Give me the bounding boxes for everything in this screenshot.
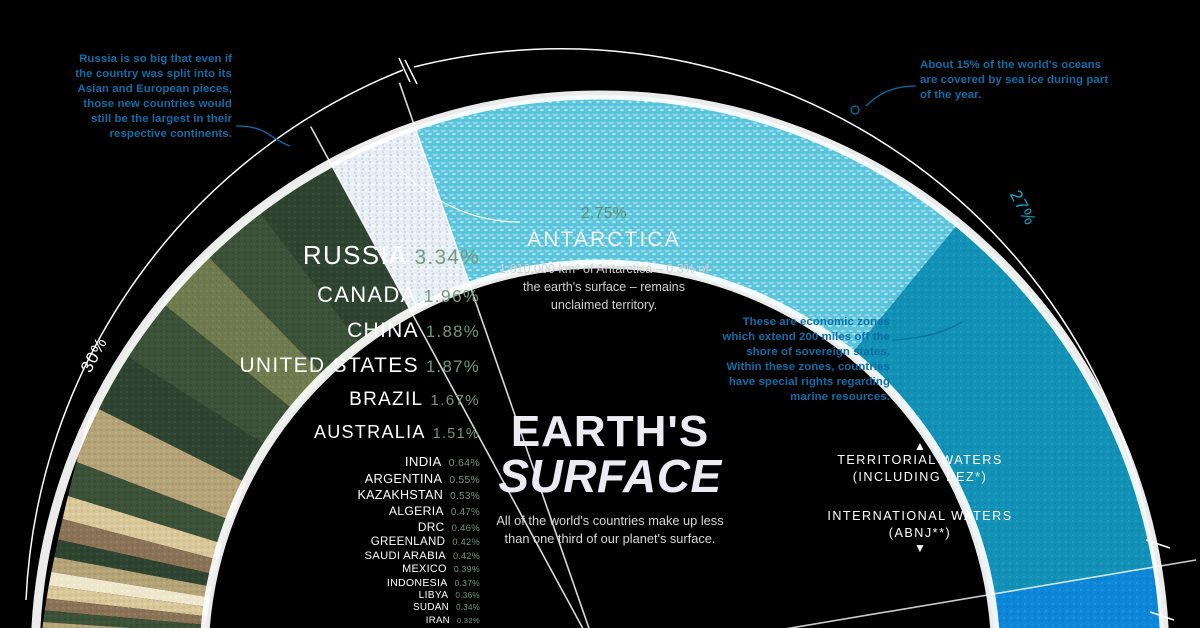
country-row[interactable]: INDONESIA0.37%	[150, 577, 480, 589]
country-name: GREENLAND	[371, 536, 446, 548]
leader-dot-sea-ice	[851, 106, 859, 114]
country-name: INDIA	[405, 454, 442, 469]
country-value: 1.87%	[426, 357, 480, 377]
country-value: 1.88%	[426, 322, 480, 342]
country-value: 0.34%	[456, 603, 480, 612]
country-row[interactable]: KAZAKHSTAN0.53%	[150, 488, 480, 502]
annotation-eez: These are economic zones which extend 20…	[722, 315, 890, 405]
country-name: LIBYA	[419, 590, 449, 601]
page-title-line2: SURFACE	[490, 453, 730, 499]
country-name: IRAN	[426, 615, 450, 626]
country-value: 0.37%	[455, 578, 480, 588]
infographic-canvas: Russia is so big that even if the countr…	[0, 0, 1200, 628]
country-value: 0.53%	[450, 491, 480, 502]
annotation-russia: Russia is so big that even if the countr…	[60, 52, 232, 142]
country-row[interactable]: LIBYA0.36%	[150, 590, 480, 601]
country-value: 0.39%	[454, 564, 480, 574]
country-name: SAUDI ARABIA	[365, 550, 447, 562]
country-name: RUSSIA	[303, 240, 408, 271]
legend-territorial-waters[interactable]: TERRITORIAL WATERS (INCLUDING EEZ*)	[820, 452, 1020, 486]
country-row[interactable]: ARGENTINA0.55%	[150, 471, 480, 486]
country-value: 1.51%	[433, 426, 480, 442]
country-value: 0.42%	[452, 537, 480, 547]
country-value: 0.55%	[449, 475, 480, 486]
country-value: 0.47%	[451, 507, 480, 518]
country-row[interactable]: INDIA0.64%	[150, 454, 480, 469]
country-name: SUDAN	[413, 602, 449, 613]
antarctica-body: 1,610,000 km² of Antarctica – 0.3% of th…	[497, 261, 711, 315]
country-row[interactable]: RUSSIA3.34%	[150, 240, 480, 271]
annotation-sea-ice: About 15% of the world's oceans are cove…	[920, 58, 1110, 103]
ocean-legend: ▲ TERRITORIAL WATERS (INCLUDING EEZ*) IN…	[820, 440, 1020, 554]
country-name: ALGERIA	[389, 504, 444, 518]
country-row[interactable]: GREENLAND0.42%	[150, 536, 480, 548]
country-value: 0.46%	[452, 523, 480, 534]
country-row[interactable]: AUSTRALIA1.51%	[150, 422, 480, 443]
country-value: 3.34%	[415, 246, 480, 270]
tick-land-end	[399, 58, 410, 82]
country-name: INDONESIA	[387, 577, 448, 589]
country-row[interactable]: SAUDI ARABIA0.42%	[150, 550, 480, 562]
legend-up-arrow-icon: ▲	[820, 440, 1020, 452]
country-row[interactable]: CANADA1.96%	[150, 282, 480, 308]
legend-international-waters[interactable]: INTERNATIONAL WATERS (ABNJ**)	[820, 508, 1020, 542]
leader-sea-ice	[866, 86, 916, 106]
country-name: BRAZIL	[349, 389, 423, 411]
country-name: MEXICO	[402, 563, 447, 575]
country-row[interactable]: BRAZIL1.67%	[150, 389, 480, 411]
country-value: 0.32%	[457, 616, 480, 625]
country-value: 1.96%	[424, 286, 480, 307]
antarctica-callout: 2.75% ANTARCTICA 1,610,000 km² of Antarc…	[497, 205, 711, 315]
antarctica-percent: 2.75%	[497, 205, 711, 223]
antarctica-title: ANTARCTICA	[497, 228, 711, 252]
country-name: CANADA	[317, 282, 417, 308]
country-row[interactable]: CHINA1.88%	[150, 319, 480, 343]
country-value: 1.67%	[430, 392, 480, 409]
country-name: DRC	[418, 520, 445, 534]
country-name: AUSTRALIA	[314, 422, 426, 443]
tick-ocean-start	[405, 60, 417, 84]
legend-down-arrow-icon: ▼	[820, 542, 1020, 554]
country-value: 0.42%	[453, 551, 480, 561]
country-value: 0.36%	[455, 591, 480, 600]
country-name: UNITED STATES	[239, 354, 418, 378]
country-row[interactable]: UNITED STATES1.87%	[150, 354, 480, 378]
country-name: CHINA	[347, 319, 419, 343]
country-row[interactable]: IRAN0.32%	[150, 615, 480, 626]
country-value: 0.64%	[449, 457, 480, 469]
country-name: KAZAKHSTAN	[357, 488, 443, 502]
country-list: RUSSIA3.34%CANADA1.96%CHINA1.88%UNITED S…	[150, 240, 480, 628]
country-name: ARGENTINA	[365, 471, 443, 486]
country-row[interactable]: DRC0.46%	[150, 520, 480, 534]
country-row[interactable]: SUDAN0.34%	[150, 602, 480, 613]
country-row[interactable]: ALGERIA0.47%	[150, 504, 480, 518]
country-row[interactable]: MEXICO0.39%	[150, 563, 480, 575]
page-title-line1: EARTH'S	[490, 410, 730, 453]
hero-title-block: EARTH'S SURFACE All of the world's count…	[490, 410, 730, 548]
page-subtitle: All of the world's countries make up les…	[490, 512, 730, 548]
